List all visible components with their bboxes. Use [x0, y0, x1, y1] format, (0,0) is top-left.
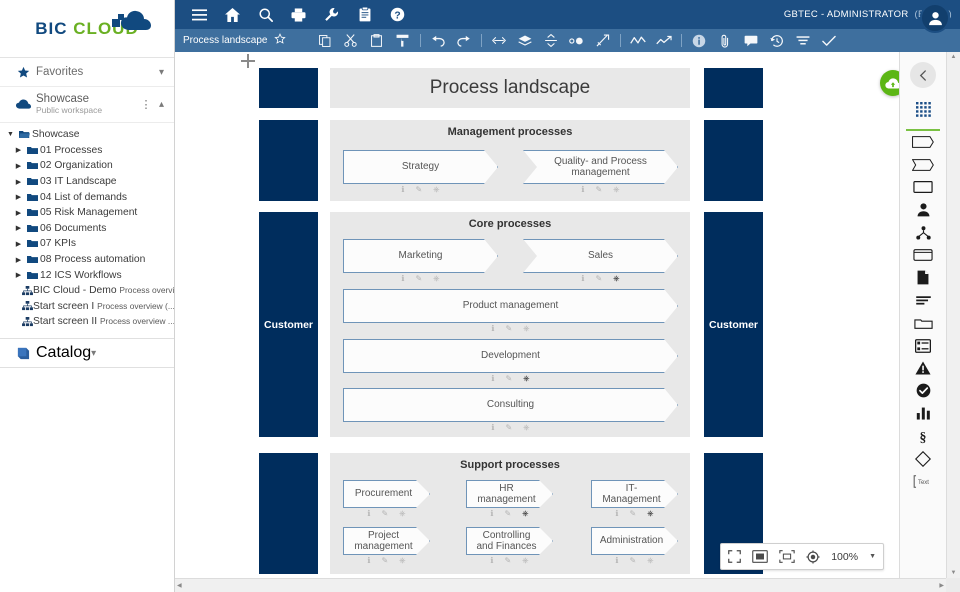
diagram-icon — [22, 301, 33, 311]
person-icon[interactable] — [900, 199, 946, 222]
tree-item-08-process-automation[interactable]: ▶ 08 Process automation — [0, 252, 174, 268]
favorites-label: Favorites — [36, 66, 159, 78]
brand-logo[interactable]: BIC CLOUD — [0, 0, 174, 58]
process-markers: ℹ ✎ ⎈ — [343, 323, 678, 334]
customer-band-left-management[interactable] — [259, 120, 318, 201]
tree-item-12-ics-workflows[interactable]: ▶ 12 ICS Workflows — [0, 267, 174, 283]
process-sales[interactable]: Sales ℹ ✎ ⎈ — [523, 239, 678, 273]
wrench-icon[interactable] — [315, 0, 348, 29]
fit-page-icon[interactable] — [752, 550, 768, 563]
tree-item-05-risk-management[interactable]: ▶ 05 Risk Management — [0, 205, 174, 221]
tree-item-label: Start screen I Process overview (... — [33, 301, 174, 312]
folder-shape-icon[interactable] — [900, 312, 946, 335]
diamond-decision-icon[interactable] — [900, 447, 946, 470]
vertical-scrollbar[interactable]: ▲ ▼ — [946, 52, 960, 578]
kebab-menu-icon[interactable]: ⋮ — [139, 98, 153, 111]
control-check-icon[interactable] — [900, 380, 946, 403]
process-consulting[interactable]: Consulting ℹ ✎ ⎈ — [343, 388, 678, 422]
star-icon — [10, 66, 36, 79]
catalog-label: Catalog — [36, 344, 91, 362]
hierarchy-marker-icon[interactable]: ⎈ — [399, 510, 405, 518]
risk-warning-icon[interactable] — [900, 357, 946, 380]
hierarchy-marker-icon[interactable]: ⎈ — [522, 557, 528, 565]
expand-arrow-icon[interactable]: ▶ — [12, 162, 25, 170]
distribute-icon[interactable] — [564, 29, 590, 52]
group-title: Core processes — [330, 218, 690, 230]
tree-item-label: 08 Process automation — [40, 254, 145, 265]
svg-text:§: § — [920, 429, 927, 443]
process-markers: ℹ ✎ ⎈ — [343, 422, 678, 433]
attachment-marker-icon[interactable]: ✎ — [381, 557, 388, 565]
tree-item-06-documents[interactable]: ▶ 06 Documents — [0, 221, 174, 237]
align-horizontal-icon[interactable] — [486, 29, 512, 52]
hierarchy-marker-icon[interactable]: ⎈ — [647, 557, 653, 565]
customer-label-left: Customer — [264, 319, 313, 331]
hierarchy-marker-icon[interactable]: ⎈ — [433, 186, 439, 194]
hierarchy-marker-icon[interactable]: ⎈ — [399, 557, 405, 565]
tree-item-04-list-of-demands[interactable]: ▶ 04 List of demands — [0, 189, 174, 205]
attachment-marker-icon[interactable]: ✎ — [381, 510, 388, 518]
info-marker-icon[interactable]: ℹ — [367, 510, 370, 518]
paragraph-icon[interactable]: § — [900, 425, 946, 448]
expand-arrow-icon[interactable]: ▶ — [12, 240, 25, 248]
search-icon[interactable] — [249, 0, 282, 29]
hierarchy-marker-icon[interactable]: ⎈ — [613, 275, 619, 283]
process-label: IT-Management — [592, 483, 677, 506]
expand-arrow-icon[interactable]: ▶ — [12, 146, 25, 154]
tree-item-01-processes[interactable]: ▶ 01 Processes — [0, 143, 174, 159]
zoom-controls: 100% ▼ — [720, 543, 884, 570]
info-marker-icon[interactable]: ℹ — [401, 186, 404, 194]
expand-arrow-icon[interactable]: ▶ — [12, 256, 25, 264]
sidebar: BIC CLOUD Favorites ▾ — [0, 0, 175, 592]
process-markers: ℹ ✎ ⎈ — [343, 373, 678, 384]
expand-arrow-icon[interactable]: ▶ — [12, 224, 25, 232]
palette-grid-icon[interactable] — [916, 102, 931, 122]
cloud-icon — [110, 8, 152, 39]
tab-process-landscape[interactable]: Process landscape — [175, 33, 286, 48]
info-icon[interactable] — [686, 29, 712, 52]
scroll-left-arrow-icon[interactable]: ◀ — [177, 582, 182, 589]
attachment-marker-icon[interactable]: ✎ — [505, 375, 512, 383]
process-markers: ℹ ✎ ⎈ — [591, 555, 678, 566]
toolbar-divider — [481, 34, 482, 47]
process-quality-and-process-management[interactable]: Quality- and Process management ℹ ✎ ⎈ — [523, 150, 678, 184]
user-name: GBTEC - ADMINISTRATOR — [784, 9, 909, 20]
hierarchy-marker-icon[interactable]: ⎈ — [647, 510, 653, 518]
editing-tools — [312, 29, 842, 52]
open-folder-icon — [17, 130, 32, 139]
tree-item-02-organization[interactable]: ▶ 02 Organization — [0, 158, 174, 174]
folder-icon — [25, 239, 40, 248]
horizontal-scrollbar[interactable]: ◀ ▶ — [175, 578, 946, 592]
hierarchy-marker-icon[interactable]: ⎈ — [523, 424, 529, 432]
group-title: Management processes — [330, 126, 690, 138]
process-label: Controlling and Finances — [467, 530, 552, 553]
info-marker-icon[interactable]: ℹ — [491, 424, 494, 432]
tree-item-label: Start screen II Process overview ... — [33, 316, 174, 327]
toolbar-divider — [681, 34, 682, 47]
folder-icon — [25, 255, 40, 264]
process-shape-icon[interactable] — [900, 131, 946, 154]
document-toolbar: Process landscape — [175, 29, 960, 52]
process-markers: ℹ ✎ ⎈ — [343, 184, 498, 195]
folder-icon — [25, 177, 40, 186]
connector-icon[interactable] — [590, 29, 616, 52]
line-style-icon[interactable] — [625, 29, 651, 52]
tree-item-label: 12 ICS Workflows — [40, 270, 122, 281]
customer-label-right: Customer — [709, 319, 758, 331]
fit-screen-icon[interactable] — [728, 550, 741, 563]
process-markers: ℹ ✎ ⎈ — [466, 555, 553, 566]
attachment-marker-icon[interactable]: ✎ — [505, 424, 512, 432]
info-marker-icon[interactable]: ℹ — [367, 557, 370, 565]
process-label: Sales — [572, 250, 629, 262]
org-unit-icon[interactable] — [900, 221, 946, 244]
validate-icon[interactable] — [816, 29, 842, 52]
process-development[interactable]: Development ℹ ✎ ⎈ — [343, 339, 678, 373]
attachment-marker-icon[interactable]: ✎ — [505, 325, 512, 333]
expand-arrow-icon[interactable]: ▶ — [12, 209, 25, 217]
process-markers: ℹ ✎ ⎈ — [343, 508, 430, 519]
folder-icon — [25, 224, 40, 233]
help-icon[interactable]: ? — [381, 0, 414, 29]
diagram-canvas[interactable]: Process landscape Management processes S… — [175, 52, 946, 578]
process-it-management[interactable]: IT-Management ℹ ✎ ⎈ — [591, 480, 678, 508]
attachment-marker-icon[interactable]: ✎ — [504, 510, 511, 518]
folder-icon — [25, 271, 40, 280]
undo-icon[interactable] — [425, 29, 451, 52]
system-icon[interactable] — [900, 244, 946, 267]
star-outline-icon[interactable] — [274, 33, 286, 48]
tree-item-label: 07 KPIs — [40, 238, 76, 249]
tree-item-bic-cloud-demo[interactable]: BIC Cloud - Demo Process overvi... — [0, 283, 174, 299]
folder-icon — [25, 208, 40, 217]
paste-icon[interactable] — [364, 29, 390, 52]
cloud-icon — [10, 99, 36, 110]
main-area: ? GBTEC - ADMINISTRATOR (EN/EN) Process … — [175, 0, 960, 592]
copy-icon[interactable] — [312, 29, 338, 52]
attachment-marker-icon[interactable]: ✎ — [504, 557, 511, 565]
info-marker-icon[interactable]: ℹ — [581, 275, 584, 283]
document-icon[interactable] — [900, 267, 946, 290]
tree-item-label: 05 Risk Management — [40, 207, 137, 218]
database-icon[interactable] — [900, 334, 946, 357]
shape-palette-rail: § Text — [899, 52, 946, 578]
attachment-marker-icon[interactable]: ✎ — [415, 186, 422, 194]
diagram-icon — [22, 286, 33, 296]
customer-band-right-management[interactable] — [704, 120, 763, 201]
folder-icon — [25, 146, 40, 155]
info-marker-icon[interactable]: ℹ — [490, 557, 493, 565]
hierarchy-marker-icon[interactable]: ⎈ — [523, 325, 529, 333]
crosshair-marker — [241, 54, 255, 68]
history-icon[interactable] — [764, 29, 790, 52]
chevron-shape-icon[interactable] — [900, 154, 946, 177]
hamburger-menu-icon[interactable] — [183, 0, 216, 29]
format-paint-icon[interactable] — [390, 29, 416, 52]
print-icon[interactable] — [282, 0, 315, 29]
cut-icon[interactable] — [338, 29, 364, 52]
process-label: Strategy — [386, 161, 455, 173]
svg-text:?: ? — [394, 10, 400, 21]
tree-item-label: 03 IT Landscape — [40, 176, 117, 187]
collapse-rail-button[interactable] — [910, 62, 936, 88]
attachment-icon[interactable] — [712, 29, 738, 52]
layers-icon[interactable] — [512, 29, 538, 52]
process-label: Administration — [594, 535, 675, 547]
workspace-showcase[interactable]: Showcase Public workspace ⋮ ▴ — [0, 87, 174, 123]
process-label: Development — [465, 350, 556, 362]
customer-band-left-top[interactable] — [259, 68, 318, 108]
process-administration[interactable]: Administration ℹ ✎ ⎈ — [591, 527, 678, 555]
comment-icon[interactable] — [738, 29, 764, 52]
process-strategy[interactable]: Strategy ℹ ✎ ⎈ — [343, 150, 498, 184]
process-hr-management[interactable]: HR management ℹ ✎ ⎈ — [466, 480, 553, 508]
expand-arrow-icon[interactable]: ▼ — [4, 131, 17, 138]
customer-band-right-core[interactable]: Customer — [704, 212, 763, 437]
sidebar-item-favorites[interactable]: Favorites ▾ — [0, 58, 174, 87]
process-product-management[interactable]: Product management ℹ ✎ ⎈ — [343, 289, 678, 323]
attachment-marker-icon[interactable]: ✎ — [629, 557, 636, 565]
toolbar-divider — [620, 34, 621, 47]
brand-name-primary: BIC — [35, 19, 67, 38]
tree-item-label: 04 List of demands — [40, 192, 127, 203]
customer-band-left-core[interactable]: Customer — [259, 212, 318, 437]
hierarchy-marker-icon[interactable]: ⎈ — [433, 275, 439, 283]
toolbar-divider — [420, 34, 421, 47]
book-icon — [10, 347, 36, 360]
folder-icon — [25, 193, 40, 202]
process-markers: ℹ ✎ ⎈ — [523, 184, 678, 195]
tree-item-03-it-landscape[interactable]: ▶ 03 IT Landscape — [0, 174, 174, 190]
scroll-up-arrow-icon[interactable]: ▲ — [951, 54, 957, 60]
workspace-subtitle: Public workspace — [36, 106, 139, 116]
info-marker-icon[interactable]: ℹ — [581, 186, 584, 194]
align-vertical-icon[interactable] — [538, 29, 564, 52]
info-marker-icon[interactable]: ℹ — [491, 375, 494, 383]
application-window: BIC CLOUD Favorites ▾ — [0, 0, 960, 592]
process-markers: ℹ ✎ ⎈ — [523, 273, 678, 284]
folder-icon — [25, 161, 40, 170]
tree-item-label: BIC Cloud - Demo Process overvi... — [33, 285, 174, 296]
process-markers: ℹ ✎ ⎈ — [343, 555, 430, 566]
hierarchy-marker-icon[interactable]: ⎈ — [613, 186, 619, 194]
process-label: Marketing — [383, 250, 459, 262]
line-route-icon[interactable] — [651, 29, 677, 52]
top-toolbar: ? GBTEC - ADMINISTRATOR (EN/EN) — [175, 0, 960, 29]
kpi-chart-icon[interactable] — [900, 402, 946, 425]
text-lines-icon[interactable] — [900, 289, 946, 312]
redo-icon[interactable] — [451, 29, 477, 52]
process-label: Procurement — [349, 488, 424, 500]
tree-item-label: 02 Organization — [40, 160, 113, 171]
zoom-level-label[interactable]: 100% — [831, 551, 858, 563]
info-marker-icon[interactable]: ℹ — [615, 557, 618, 565]
tree-item-label: 06 Documents — [40, 223, 106, 234]
customer-band-right-top[interactable] — [704, 68, 763, 108]
diagram-icon — [22, 317, 33, 327]
diagram-title-box[interactable]: Process landscape — [330, 68, 690, 108]
attachment-marker-icon[interactable]: ✎ — [629, 510, 636, 518]
tree-item-label: 01 Processes — [40, 145, 102, 156]
fit-selection-icon[interactable] — [779, 550, 795, 563]
process-marketing[interactable]: Marketing ℹ ✎ ⎈ — [343, 239, 498, 273]
tree-item-showcase[interactable]: ▼ Showcase — [0, 127, 174, 143]
tree-item-label: Showcase — [32, 129, 80, 140]
tree-item-07-kpis[interactable]: ▶ 07 KPIs — [0, 236, 174, 252]
attachment-marker-icon[interactable]: ✎ — [595, 186, 602, 194]
process-markers: ℹ ✎ ⎈ — [591, 508, 678, 519]
process-label: Consulting — [471, 399, 550, 411]
info-marker-icon[interactable]: ℹ — [615, 510, 618, 518]
text-field-icon[interactable]: Text — [900, 470, 946, 493]
attachment-marker-icon[interactable]: ✎ — [595, 275, 602, 283]
process-label: Quality- and Process management — [524, 156, 677, 179]
expand-arrow-icon[interactable]: ▶ — [12, 193, 25, 201]
center-target-icon[interactable] — [806, 550, 820, 564]
rectangle-icon[interactable] — [900, 176, 946, 199]
process-controlling-and-finances[interactable]: Controlling and Finances ℹ ✎ ⎈ — [466, 527, 553, 555]
avatar[interactable] — [920, 3, 950, 33]
chevron-down-icon[interactable]: ▾ — [159, 67, 164, 78]
home-icon[interactable] — [216, 0, 249, 29]
process-project-management[interactable]: Project management ℹ ✎ ⎈ — [343, 527, 430, 555]
expand-arrow-icon[interactable]: ▶ — [12, 178, 25, 186]
scroll-down-arrow-icon[interactable]: ▼ — [951, 570, 957, 576]
scrollbar-corner — [946, 578, 960, 592]
process-label: Project management — [344, 530, 429, 553]
clipboard-icon[interactable] — [348, 0, 381, 29]
hierarchy-marker-icon[interactable]: ⎈ — [523, 375, 529, 383]
info-marker-icon[interactable]: ℹ — [401, 275, 404, 283]
tab-label: Process landscape — [183, 35, 268, 46]
process-label: Product management — [447, 300, 575, 312]
group-title: Support processes — [330, 459, 690, 471]
svg-text:Text: Text — [918, 480, 929, 486]
tree-item-start-screen-1[interactable]: Start screen I Process overview (... — [0, 299, 174, 315]
chevron-up-icon[interactable]: ▴ — [159, 99, 164, 110]
filter-icon[interactable] — [790, 29, 816, 52]
tree-item-start-screen-2[interactable]: Start screen II Process overview ... — [0, 314, 174, 330]
hierarchy-marker-icon[interactable]: ⎈ — [522, 510, 528, 518]
attachment-marker-icon[interactable]: ✎ — [415, 275, 422, 283]
scroll-right-arrow-icon[interactable]: ▶ — [939, 582, 944, 589]
chevron-down-icon[interactable]: ▾ — [91, 348, 96, 359]
chevron-down-icon[interactable]: ▼ — [869, 553, 876, 560]
sidebar-item-catalog[interactable]: Catalog ▾ — [0, 338, 174, 368]
info-marker-icon[interactable]: ℹ — [490, 510, 493, 518]
process-procurement[interactable]: Procurement ℹ ✎ ⎈ — [343, 480, 430, 508]
process-markers: ℹ ✎ ⎈ — [466, 508, 553, 519]
info-marker-icon[interactable]: ℹ — [491, 325, 494, 333]
page-title: Process landscape — [430, 77, 591, 99]
process-markers: ℹ ✎ ⎈ — [343, 273, 498, 284]
process-label: HR management — [467, 483, 552, 506]
expand-arrow-icon[interactable]: ▶ — [12, 271, 25, 279]
customer-band-left-support[interactable] — [259, 453, 318, 574]
